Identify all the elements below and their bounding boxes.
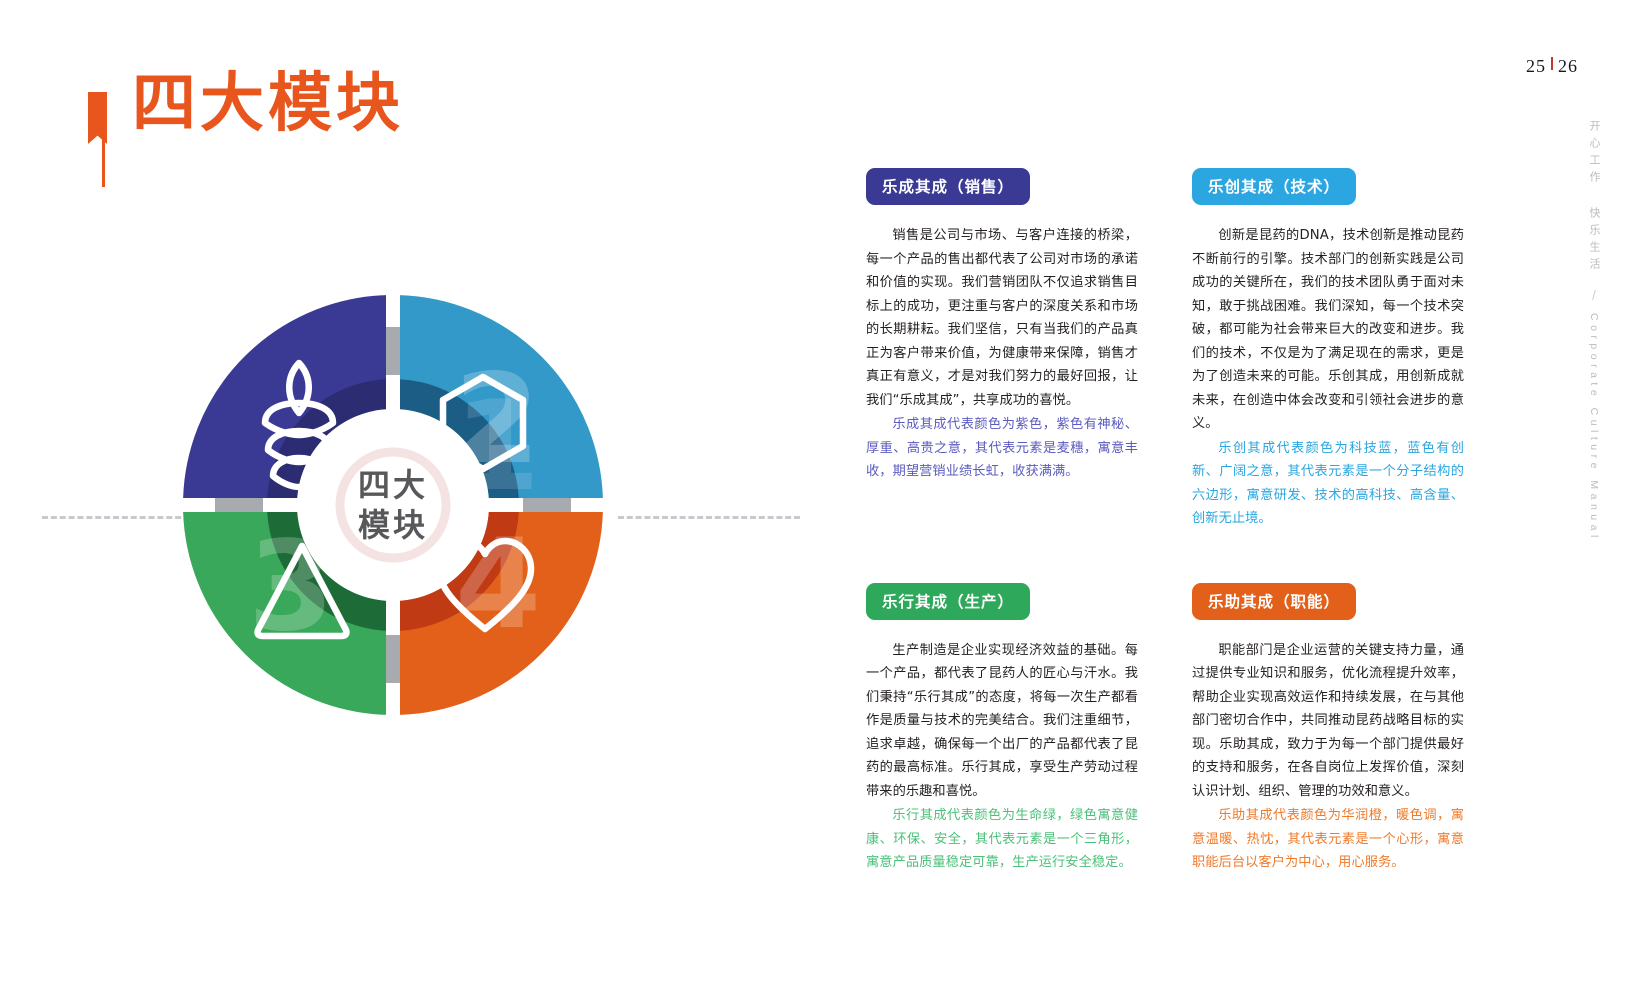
connector-nub-left	[215, 498, 263, 512]
connector-nub-bottom	[386, 635, 400, 683]
module-body-technology: 创新是昆药的DNA，技术创新是推动昆药不断前行的引擎。技术部门的创新实践是公司成…	[1192, 224, 1464, 531]
module-body-text-function: 职能部门是企业运营的关键支持力量，通过提供专业知识和服务，优化流程提升效率，帮助…	[1192, 639, 1464, 804]
page-root: 四大模块 25 26 开心工作 快乐生活 / Corporate Culture…	[0, 0, 1631, 1000]
page-number-left: 25	[1526, 56, 1546, 77]
page-number: 25 26	[1526, 56, 1578, 77]
module-badge-technology[interactable]: 乐创其成（技术）	[1192, 168, 1356, 205]
donut-svg: 1 2 3 4	[183, 295, 603, 715]
module-card-sales: 乐成其成（销售） 销售是公司与市场、与客户连接的桥梁，每一个产品的售出都代表了公…	[866, 168, 1138, 531]
side-text-chinese: 开心工作 快乐生活	[1586, 120, 1602, 275]
module-badge-function[interactable]: 乐助其成（职能）	[1192, 583, 1356, 620]
dashed-line-left	[42, 516, 190, 519]
module-badge-production[interactable]: 乐行其成（生产）	[866, 583, 1030, 620]
module-cards-grid: 乐成其成（销售） 销售是公司与市场、与客户连接的桥梁，每一个产品的售出都代表了公…	[866, 168, 1464, 875]
module-note-production: 乐行其成代表颜色为生命绿，绿色寓意健康、环保、安全，其代表元素是一个三角形，寓意…	[866, 804, 1138, 875]
module-note-technology: 乐创其成代表颜色为科技蓝，蓝色有创新、广阔之意，其代表元素是一个分子结构的六边形…	[1192, 437, 1464, 531]
page-title: 四大模块	[132, 72, 404, 136]
side-text-english: Corporate Culture Manual	[1588, 313, 1600, 542]
page-number-separator	[1551, 57, 1553, 70]
module-body-text-sales: 销售是公司与市场、与客户连接的桥梁，每一个产品的售出都代表了公司对市场的承诺和价…	[866, 224, 1138, 412]
module-badge-sales[interactable]: 乐成其成（销售）	[866, 168, 1030, 205]
module-card-technology: 乐创其成（技术） 创新是昆药的DNA，技术创新是推动昆药不断前行的引擎。技术部门…	[1192, 168, 1464, 531]
module-body-text-technology: 创新是昆药的DNA，技术创新是推动昆药不断前行的引擎。技术部门的创新实践是公司成…	[1192, 224, 1464, 436]
page-title-block: 四大模块	[88, 78, 404, 187]
module-body-function: 职能部门是企业运营的关键支持力量，通过提供专业知识和服务，优化流程提升效率，帮助…	[1192, 639, 1464, 875]
module-body-text-production: 生产制造是企业实现经济效益的基础。每一个产品，都代表了昆药人的匠心与汗水。我们秉…	[866, 639, 1138, 804]
side-vertical-text: 开心工作 快乐生活 / Corporate Culture Manual	[1581, 120, 1607, 560]
module-note-function: 乐助其成代表颜色为华润橙，暖色调，寓意温暖、热忱，其代表元素是一个心形，寓意职能…	[1192, 804, 1464, 875]
dashed-line-right	[618, 516, 800, 519]
side-text-slash: /	[1592, 287, 1596, 303]
module-note-sales: 乐成其成代表颜色为紫色，紫色有神秘、厚重、高贵之意，其代表元素是麦穗，寓意丰收，…	[866, 413, 1138, 484]
segment-number-2: 2	[454, 348, 540, 492]
flag-marker-icon	[88, 92, 108, 187]
module-body-production: 生产制造是企业实现经济效益的基础。每一个产品，都代表了昆药人的匠心与汗水。我们秉…	[866, 639, 1138, 875]
module-card-function: 乐助其成（职能） 职能部门是企业运营的关键支持力量，通过提供专业知识和服务，优化…	[1192, 583, 1464, 875]
module-card-production: 乐行其成（生产） 生产制造是企业实现经济效益的基础。每一个产品，都代表了昆药人的…	[866, 583, 1138, 875]
connector-nub-top	[386, 327, 400, 375]
module-body-sales: 销售是公司与市场、与客户连接的桥梁，每一个产品的售出都代表了公司对市场的承诺和价…	[866, 224, 1138, 484]
four-modules-donut-diagram: 1 2 3 4	[183, 295, 603, 715]
page-number-right: 26	[1558, 56, 1578, 77]
